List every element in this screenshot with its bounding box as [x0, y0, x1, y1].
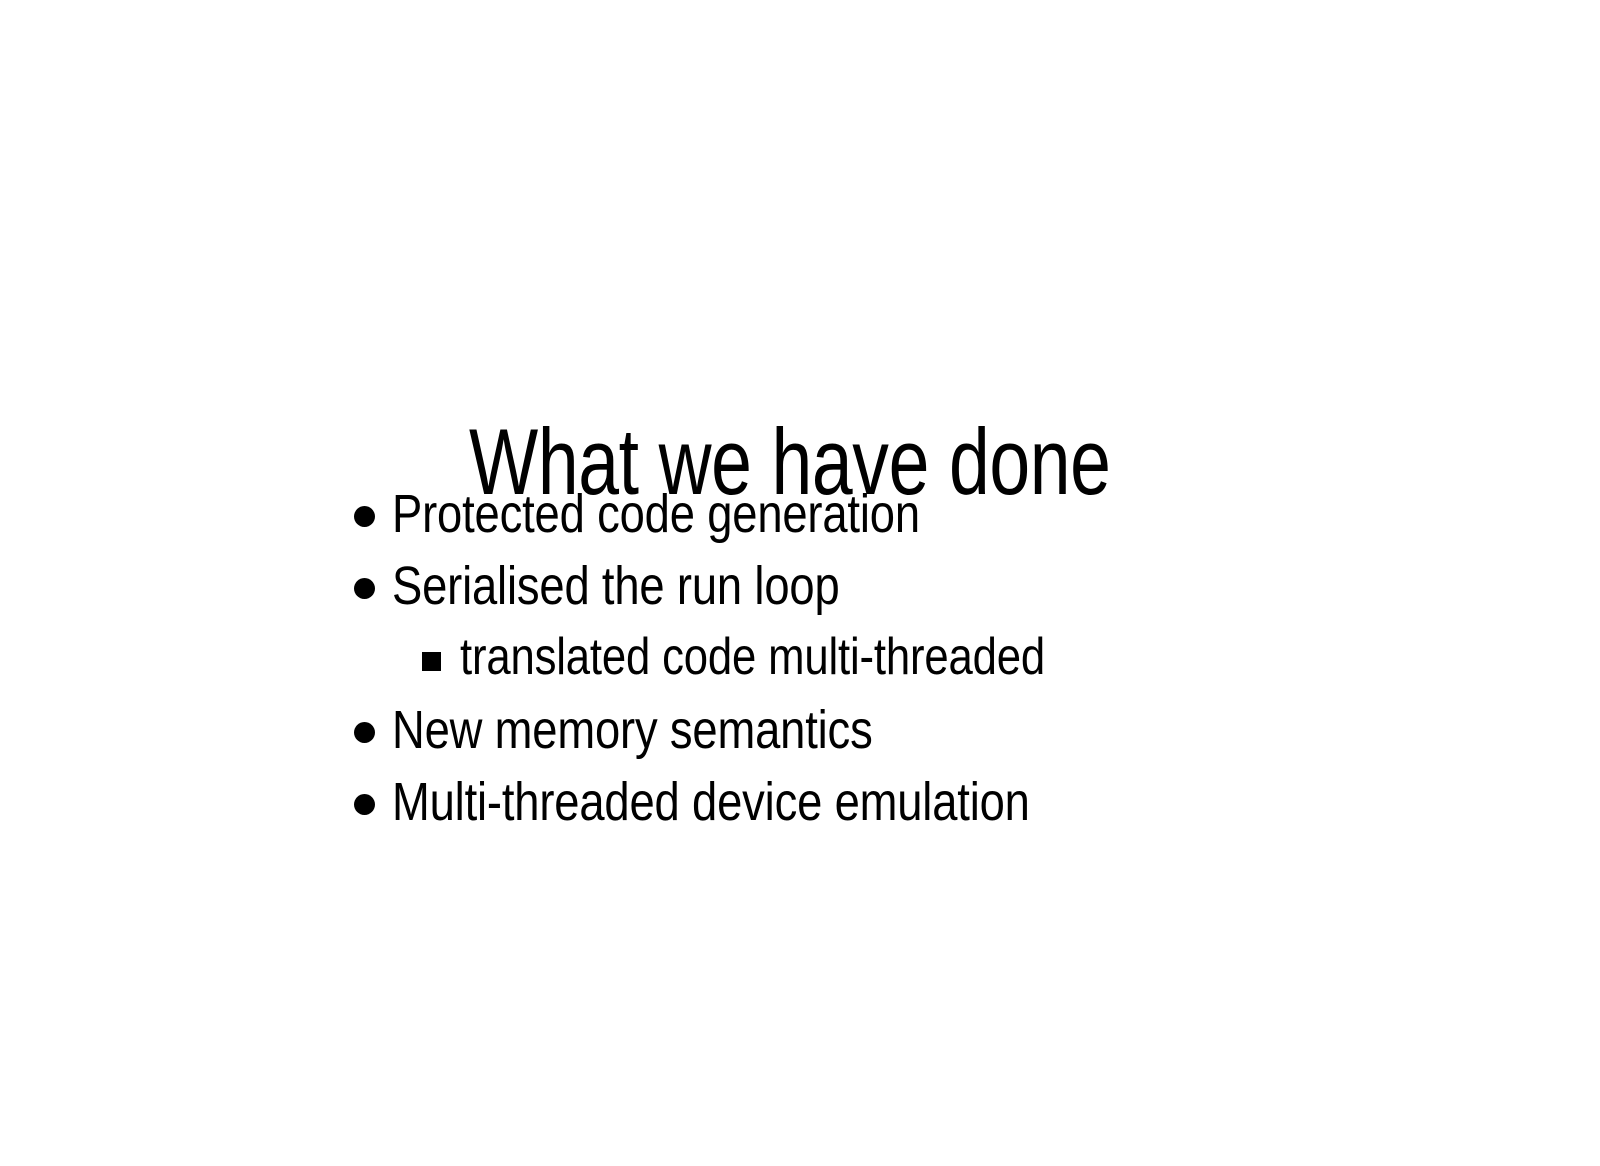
list-item: Protected code generation: [340, 487, 1540, 559]
presentation-slide: What we have done Protected code generat…: [0, 0, 1600, 1166]
list-item-label: New memory semantics: [392, 703, 873, 757]
bullet-list: Protected code generation Serialised the…: [340, 487, 1540, 847]
list-item-label: Multi-threaded device emulation: [392, 775, 1030, 829]
list-item-label: translated code multi-threaded: [460, 631, 1045, 683]
list-item: Multi-threaded device emulation: [340, 775, 1540, 847]
list-item: translated code multi-threaded: [340, 631, 1540, 703]
list-item-label: Protected code generation: [392, 487, 920, 541]
list-item: Serialised the run loop: [340, 559, 1540, 631]
list-item: New memory semantics: [340, 703, 1540, 775]
list-item-label: Serialised the run loop: [392, 559, 840, 613]
